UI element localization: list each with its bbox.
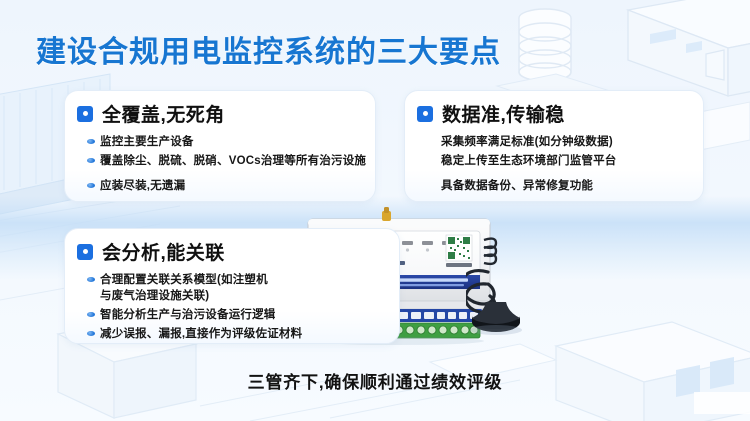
- poster-root: 建设合规用电监控系统的三大要点: [0, 0, 750, 421]
- list-item: 具备数据备份、异常修复功能: [405, 177, 703, 196]
- list-item-label: 合理配置关联关系模型(如注塑机 与废气治理设施关联): [100, 272, 268, 305]
- list-item-label: 具备数据备份、异常修复功能: [441, 178, 593, 194]
- square-dot-marker-icon: [417, 106, 433, 122]
- list-item: 采集频率满足标准(如分钟级数据): [405, 132, 703, 151]
- page-title: 建设合规用电监控系统的三大要点: [36, 27, 501, 71]
- card-item-list: 采集频率满足标准(如分钟级数据) 稳定上传至生态环境部门监管平台 具备数据备份、…: [405, 127, 703, 196]
- bullet-icon: [87, 139, 95, 144]
- list-item-label: 覆盖除尘、脱硫、脱硝、VOCs治理等所有治污设施: [100, 153, 366, 169]
- card-header: 全覆盖,无死角: [65, 91, 375, 127]
- list-item: 减少误报、漏报,直接作为评级佐证材料: [65, 325, 399, 344]
- card-header: 会分析,能关联: [65, 229, 399, 265]
- list-item-label: 应装尽装,无遗漏: [100, 178, 185, 194]
- bullet-icon: [87, 158, 95, 163]
- list-item-label: 稳定上传至生态环境部门监管平台: [441, 153, 617, 169]
- bullet-icon: [87, 183, 95, 188]
- bullet-icon: [87, 331, 95, 336]
- card-title: 数据准,传输稳: [442, 100, 565, 127]
- footer-tagline: 三管齐下,确保顺利通过绩效评级: [0, 368, 750, 393]
- list-item: 智能分析生产与治污设备运行逻辑: [65, 306, 399, 325]
- list-item: 合理配置关联关系模型(如注塑机 与废气治理设施关联): [65, 270, 399, 306]
- bullet-icon: [87, 312, 95, 317]
- list-item-label: 智能分析生产与治污设备运行逻辑: [100, 307, 276, 323]
- square-dot-marker-icon: [77, 106, 93, 122]
- list-item: 覆盖除尘、脱硫、脱硝、VOCs治理等所有治污设施: [65, 151, 375, 170]
- list-item: 应装尽装,无遗漏: [65, 177, 375, 196]
- card-item-list: 合理配置关联关系模型(如注塑机 与废气治理设施关联) 智能分析生产与治污设备运行…: [65, 265, 399, 344]
- list-item-label: 减少误报、漏报,直接作为评级佐证材料: [100, 326, 302, 342]
- card-title: 会分析,能关联: [102, 238, 225, 265]
- list-item-label: 采集频率满足标准(如分钟级数据): [441, 134, 613, 150]
- card-item-list: 监控主要生产设备 覆盖除尘、脱硫、脱硝、VOCs治理等所有治污设施 应装尽装,无…: [65, 127, 375, 196]
- list-item: 稳定上传至生态环境部门监管平台: [405, 151, 703, 170]
- list-item-label: 监控主要生产设备: [100, 134, 194, 150]
- list-item: 监控主要生产设备: [65, 132, 375, 151]
- card-header: 数据准,传输稳: [405, 91, 703, 127]
- card-data-accuracy: 数据准,传输稳 采集频率满足标准(如分钟级数据) 稳定上传至生态环境部门监管平台…: [404, 90, 704, 202]
- card-analysis-correlation: 会分析,能关联 合理配置关联关系模型(如注塑机 与废气治理设施关联) 智能分析生…: [64, 228, 400, 344]
- card-full-coverage: 全覆盖,无死角 监控主要生产设备 覆盖除尘、脱硫、脱硝、VOCs治理等所有治污设…: [64, 90, 376, 202]
- bullet-icon: [87, 277, 95, 282]
- card-title: 全覆盖,无死角: [102, 100, 225, 127]
- square-dot-marker-icon: [77, 244, 93, 260]
